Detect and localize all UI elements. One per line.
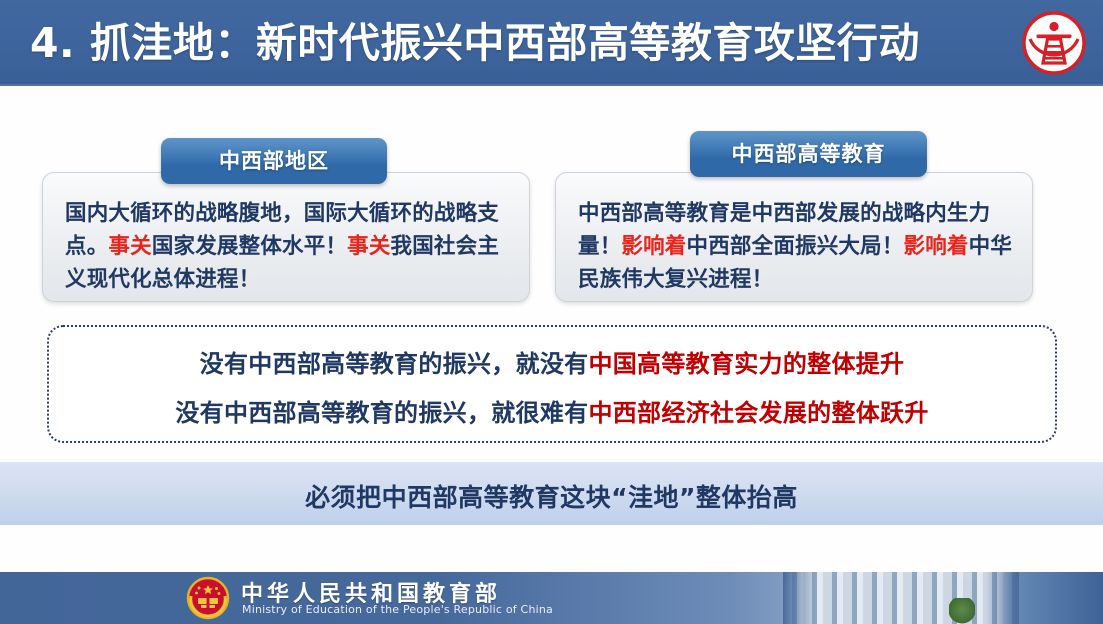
- card-right-pill-title: 中西部高等教育: [690, 131, 927, 177]
- ministry-building-tree: [949, 598, 975, 624]
- text-run: 中西部全面振兴大局！: [687, 234, 904, 259]
- conclusion-banner-text: 必须把中西部高等教育这块“洼地”整体抬高: [0, 478, 1103, 514]
- card-right-body-text: 中西部高等教育是中西部发展的战略内生力量！影响着中西部全面振兴大局！影响着中华民…: [578, 197, 1014, 296]
- footer-org-name-en: Ministry of Education of the People's Re…: [242, 603, 553, 616]
- dashed-callout-box: 没有中西部高等教育的振兴，就没有中国高等教育实力的整体提升 没有中西部高等教育的…: [47, 325, 1057, 443]
- card-left-pill-title: 中西部地区: [161, 138, 387, 184]
- ministry-building-photo: [783, 572, 1019, 624]
- card-left: 国内大循环的战略腹地，国际大循环的战略支点。事关国家发展整体水平！事关我国社会主…: [42, 172, 530, 302]
- slide-canvas: 4. 抓洼地：新时代振兴中西部高等教育攻坚行动 中西部地区 国内大循环的战略腹地…: [0, 0, 1103, 624]
- highlighted-text-run: 事关: [347, 234, 390, 259]
- highlighted-text-run: 中国高等教育实力的整体提升: [588, 350, 904, 378]
- text-run: 国家发展整体水平！: [152, 234, 347, 259]
- tongji-university-emblem-icon: [1019, 8, 1089, 78]
- highlighted-text-run: 影响着: [621, 234, 686, 259]
- card-right: 中西部高等教育是中西部发展的战略内生力量！影响着中西部全面振兴大局！影响着中华民…: [555, 172, 1033, 302]
- national-emblem-of-china-icon: [186, 576, 230, 620]
- dashed-callout-line-1: 没有中西部高等教育的振兴，就没有中国高等教育实力的整体提升: [49, 344, 1055, 379]
- highlighted-text-run: 中西部经济社会发展的整体跃升: [588, 399, 928, 427]
- slide-header: 4. 抓洼地：新时代振兴中西部高等教育攻坚行动: [0, 0, 1103, 86]
- page-title: 4. 抓洼地：新时代振兴中西部高等教育攻坚行动: [30, 13, 990, 73]
- text-run: 没有中西部高等教育的振兴，就没有: [200, 350, 589, 378]
- text-run: 没有中西部高等教育的振兴，就很难有: [175, 399, 588, 427]
- highlighted-text-run: 事关: [108, 234, 151, 259]
- highlighted-text-run: 影响着: [904, 234, 969, 259]
- card-left-body-text: 国内大循环的战略腹地，国际大循环的战略支点。事关国家发展整体水平！事关我国社会主…: [65, 197, 511, 296]
- dashed-callout-line-2: 没有中西部高等教育的振兴，就很难有中西部经济社会发展的整体跃升: [49, 393, 1055, 428]
- conclusion-banner: 必须把中西部高等教育这块“洼地”整体抬高: [0, 462, 1103, 525]
- slide-footer: [0, 572, 1103, 624]
